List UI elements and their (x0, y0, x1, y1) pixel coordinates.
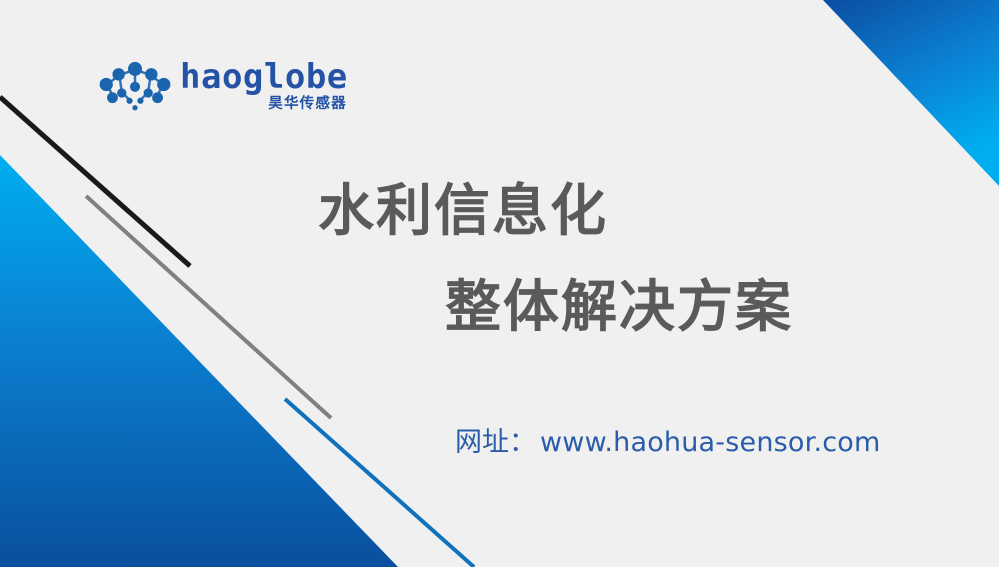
logo-subtitle: 昊华传感器 (268, 97, 347, 112)
page-title-line-2: 整体解决方案 (445, 262, 793, 343)
network-dots-icon (96, 58, 174, 114)
website-label: 网址： (455, 420, 536, 459)
brand-logo: haoglobe 昊华传感器 (96, 58, 348, 114)
top-right-blue-triangle (823, 0, 999, 186)
website-line: 网址： www.haohua-sensor.com (455, 420, 881, 459)
page-title-line-1: 水利信息化 (318, 166, 608, 247)
website-url[interactable]: www.haohua-sensor.com (540, 427, 881, 458)
title-slide: haoglobe 昊华传感器 水利信息化 整体解决方案 网址： www.haoh… (0, 0, 999, 567)
logo-wordmark: haoglobe (180, 60, 348, 95)
